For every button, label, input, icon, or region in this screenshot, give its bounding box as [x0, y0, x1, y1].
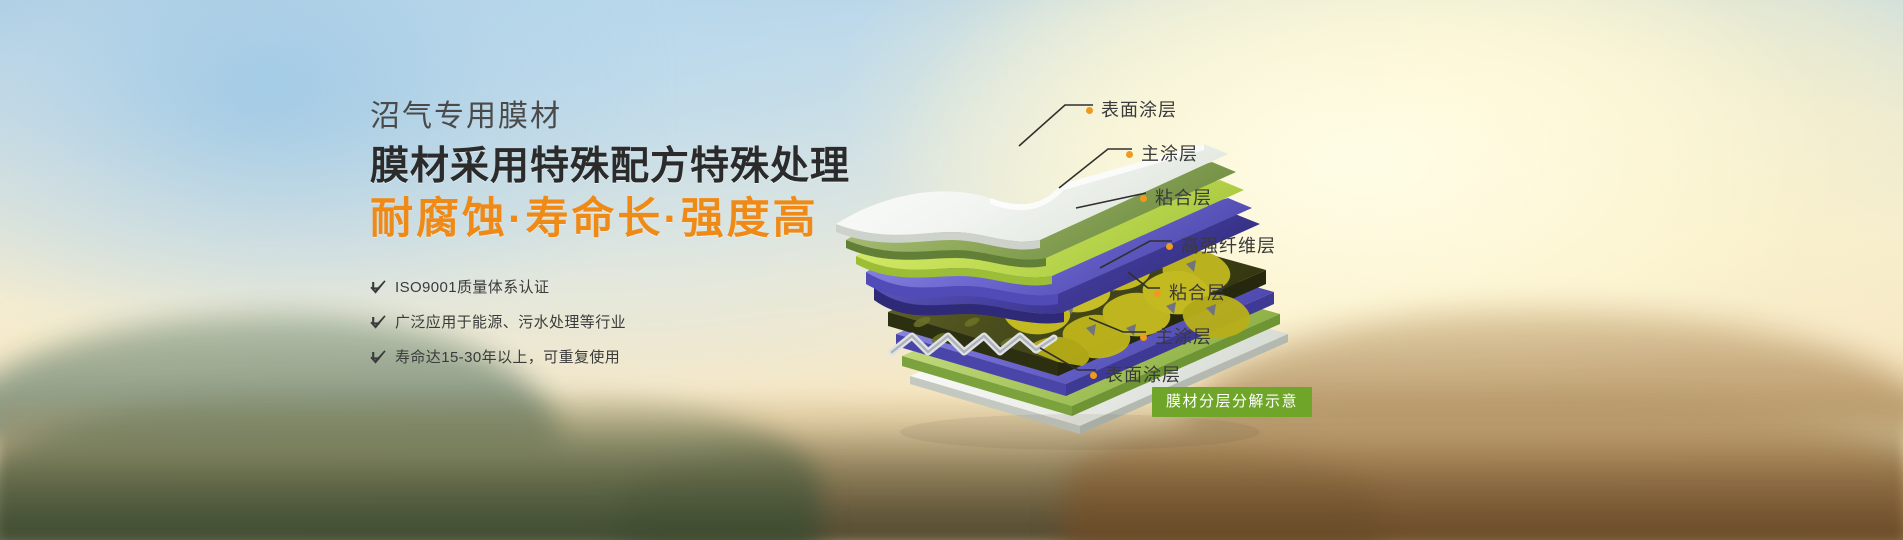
list-item: ISO9001质量体系认证: [370, 279, 850, 295]
banner-headline: 膜材采用特殊配方特殊处理: [370, 144, 850, 190]
banner-headline-accent: 耐腐蚀·寿命长·强度高: [370, 194, 850, 246]
callout-label: 表面涂层: [1105, 366, 1181, 384]
callout-high-strength-fiber[interactable]: 高强纤维层: [1166, 237, 1276, 255]
callout-label: 粘合层: [1169, 284, 1226, 302]
diagram-caption-badge: 膜材分层分解示意: [1152, 387, 1312, 417]
callout-adhesive-bottom[interactable]: 粘合层: [1154, 284, 1226, 302]
check-icon: [370, 279, 386, 295]
callout-adhesive-top[interactable]: 粘合层: [1140, 189, 1212, 207]
callout-label: 主涂层: [1155, 328, 1212, 346]
callout-surface-coat-top[interactable]: 表面涂层: [1086, 101, 1177, 119]
banner-kicker: 沼气专用膜材: [370, 98, 850, 136]
callout-label: 主涂层: [1141, 145, 1198, 163]
callout-label: 粘合层: [1155, 189, 1212, 207]
callout-dot-icon: [1086, 107, 1093, 114]
feature-label: 寿命达15-30年以上，可重复使用: [395, 350, 620, 365]
callout-dot-icon: [1140, 195, 1147, 202]
callout-dot-icon: [1140, 334, 1147, 341]
feature-label: 广泛应用于能源、污水处理等行业: [395, 315, 626, 330]
list-item: 寿命达15-30年以上，可重复使用: [370, 349, 850, 365]
banner-copy: 沼气专用膜材 膜材采用特殊配方特殊处理 耐腐蚀·寿命长·强度高 ISO9001质…: [370, 98, 850, 384]
callout-main-coat-bottom[interactable]: 主涂层: [1140, 328, 1212, 346]
check-icon: [370, 349, 386, 365]
list-item: 广泛应用于能源、污水处理等行业: [370, 314, 850, 330]
callout-dot-icon: [1090, 372, 1097, 379]
check-icon: [370, 314, 386, 330]
callout-label: 表面涂层: [1101, 101, 1177, 119]
callout-dot-icon: [1126, 151, 1133, 158]
feature-label: ISO9001质量体系认证: [395, 280, 549, 295]
callout-surface-coat-bottom[interactable]: 表面涂层: [1090, 366, 1181, 384]
callout-label: 高强纤维层: [1181, 237, 1276, 255]
promo-banner: 沼气专用膜材 膜材采用特殊配方特殊处理 耐腐蚀·寿命长·强度高 ISO9001质…: [0, 0, 1903, 540]
callout-dot-icon: [1154, 290, 1161, 297]
feature-list: ISO9001质量体系认证 广泛应用于能源、污水处理等行业: [370, 279, 850, 365]
callout-dot-icon: [1166, 243, 1173, 250]
callout-main-coat-top[interactable]: 主涂层: [1126, 145, 1198, 163]
